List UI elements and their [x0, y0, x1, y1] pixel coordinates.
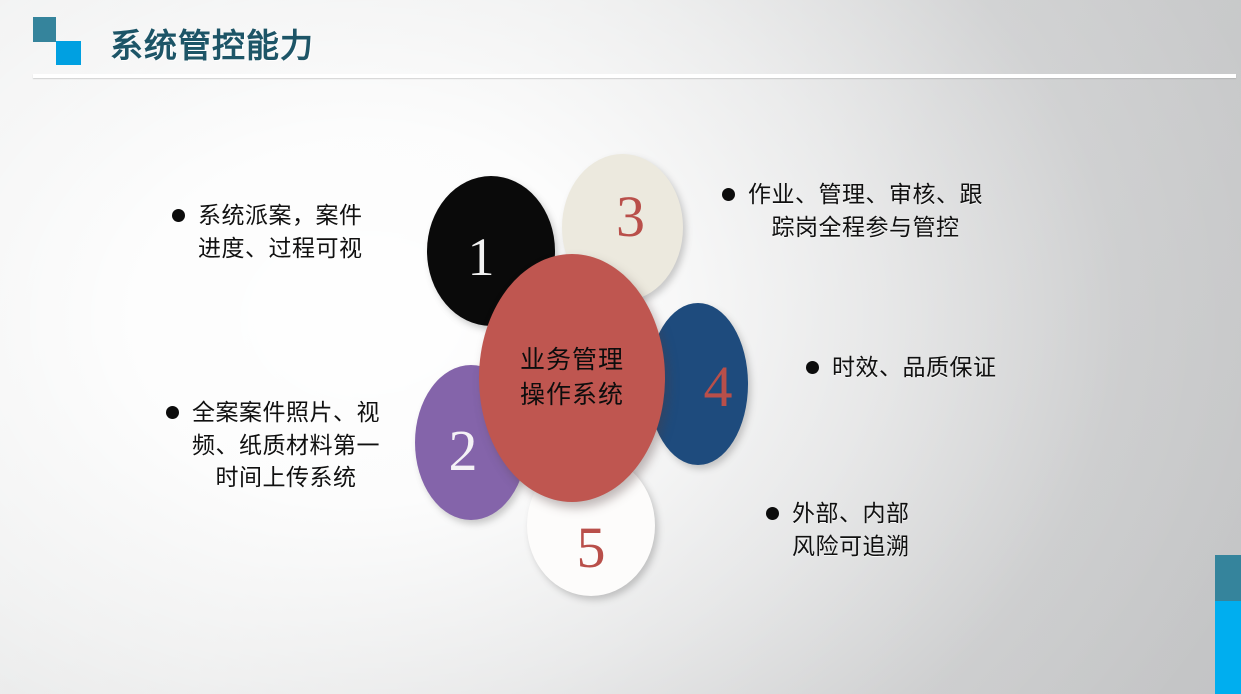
- callout-4: 时效、品质保证: [806, 352, 1046, 385]
- callout-1-text: 系统派案，案件 进度、过程可视: [198, 200, 363, 265]
- callout-5: 外部、内部 风险可追溯: [766, 498, 996, 563]
- callout-2-text: 全案案件照片、视 频、纸质材料第一 时间上传系统: [192, 397, 380, 495]
- center-label-line1: 业务管理: [520, 343, 624, 379]
- petal-3-number: 3: [616, 188, 645, 246]
- center-label-line2: 操作系统: [520, 378, 624, 414]
- center-ellipse[interactable]: 业务管理 操作系统: [479, 254, 665, 502]
- callout-2: 全案案件照片、视 频、纸质材料第一 时间上传系统: [166, 397, 418, 495]
- corner-accent: [1215, 555, 1241, 694]
- callout-4-text: 时效、品质保证: [832, 352, 997, 385]
- callout-5-text: 外部、内部 风险可追溯: [792, 498, 910, 563]
- petal-diagram: 1 3 4 2 5 业务管理 操作系统 系统派案，案件 进度、过程可视 全案案件…: [0, 0, 1241, 694]
- bullet-dot-icon: [166, 406, 179, 419]
- corner-accent-blue: [1215, 601, 1241, 694]
- callout-3: 作业、管理、审核、跟 踪岗全程参与管控: [722, 179, 1027, 244]
- corner-accent-teal: [1215, 555, 1241, 601]
- bullet-dot-icon: [172, 209, 185, 222]
- bullet-dot-icon: [722, 188, 735, 201]
- petal-1-number: 1: [468, 230, 495, 284]
- petal-2-number: 2: [449, 422, 478, 480]
- petal-5-number: 5: [577, 519, 606, 577]
- petal-4-number: 4: [704, 358, 733, 416]
- callout-3-text: 作业、管理、审核、跟 踪岗全程参与管控: [748, 179, 983, 244]
- callout-1: 系统派案，案件 进度、过程可视: [172, 200, 412, 265]
- slide-canvas: 系统管控能力 1 3 4 2 5 业务管理 操作系统 系统派案，案件 进度、过程…: [0, 0, 1241, 694]
- bullet-dot-icon: [766, 507, 779, 520]
- bullet-dot-icon: [806, 361, 819, 374]
